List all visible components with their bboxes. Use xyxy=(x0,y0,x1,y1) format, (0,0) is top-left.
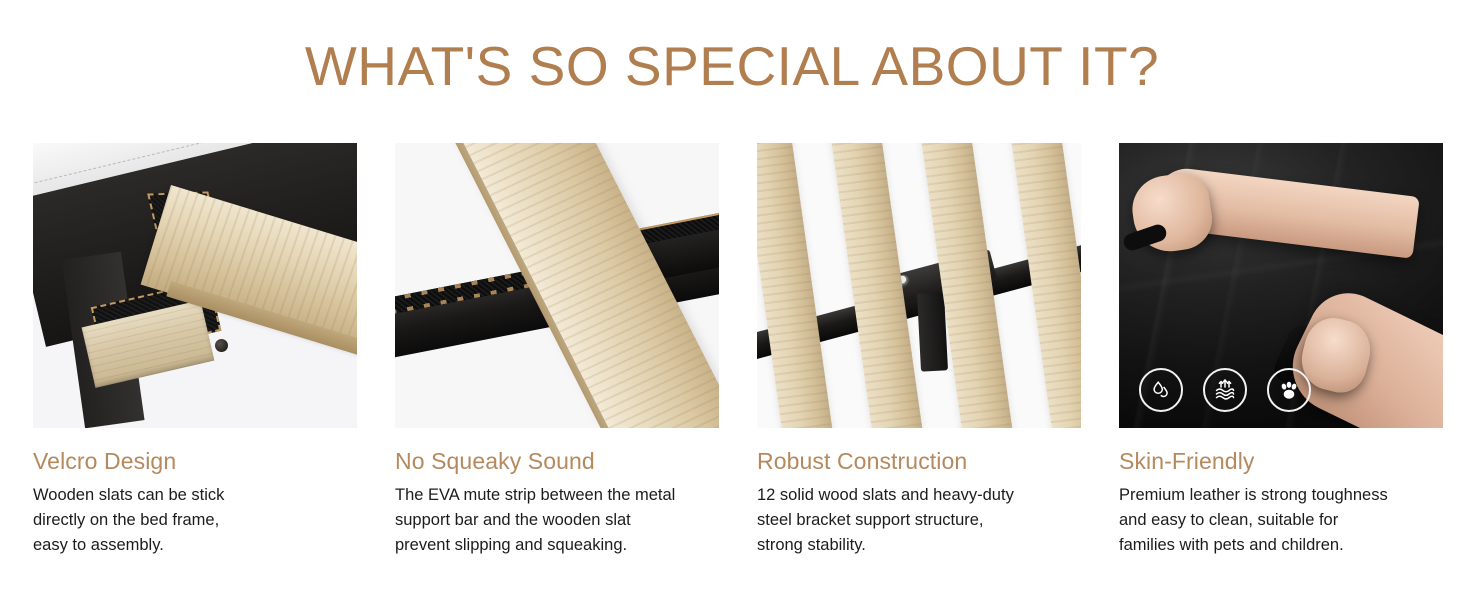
feature-description-line: easy to assembly. xyxy=(33,533,357,558)
pet-friendly-paw-icon xyxy=(1267,368,1311,412)
feature-title: Robust Construction xyxy=(757,448,1081,475)
feature-image-velcro-design xyxy=(33,143,357,428)
feature-grid: Velcro Design Wooden slats can be stick … xyxy=(33,143,1431,558)
feature-image-no-squeaky-sound xyxy=(395,143,719,428)
feature-description-line: strong stability. xyxy=(757,533,1081,558)
feature-description: 12 solid wood slats and heavy-duty steel… xyxy=(757,483,1081,558)
feature-description-line: 12 solid wood slats and heavy-duty xyxy=(757,483,1081,508)
waterproof-icon xyxy=(1139,368,1183,412)
feature-description-line: steel bracket support structure, xyxy=(757,508,1081,533)
feature-description: Premium leather is strong toughness and … xyxy=(1119,483,1443,558)
material-badge-row xyxy=(1139,368,1311,412)
feature-image-robust-construction xyxy=(757,143,1081,428)
feature-title: No Squeaky Sound xyxy=(395,448,719,475)
feature-image-skin-friendly xyxy=(1119,143,1443,428)
feature-card-robust-construction: Robust Construction 12 solid wood slats … xyxy=(757,143,1081,558)
feature-card-velcro-design: Velcro Design Wooden slats can be stick … xyxy=(33,143,357,558)
feature-title: Velcro Design xyxy=(33,448,357,475)
feature-title: Skin-Friendly xyxy=(1119,448,1443,475)
feature-description-line: support bar and the wooden slat xyxy=(395,508,719,533)
feature-card-no-squeaky-sound: No Squeaky Sound The EVA mute strip betw… xyxy=(395,143,719,558)
feature-description: The EVA mute strip between the metal sup… xyxy=(395,483,719,558)
feature-description-line: Wooden slats can be stick xyxy=(33,483,357,508)
frame-bolt-icon xyxy=(215,339,228,352)
feature-description-line: prevent slipping and squeaking. xyxy=(395,533,719,558)
feature-description: Wooden slats can be stick directly on th… xyxy=(33,483,357,558)
feature-banner: WHAT'S SO SPECIAL ABOUT IT? Velcro Desi xyxy=(0,0,1464,600)
page-title: WHAT'S SO SPECIAL ABOUT IT? xyxy=(0,34,1464,98)
feature-card-skin-friendly: Skin-Friendly Premium leather is strong … xyxy=(1119,143,1443,558)
feature-description-line: directly on the bed frame, xyxy=(33,508,357,533)
feature-description-line: Premium leather is strong toughness xyxy=(1119,483,1443,508)
feature-description-line: The EVA mute strip between the metal xyxy=(395,483,719,508)
breathable-icon xyxy=(1203,368,1247,412)
feature-description-line: and easy to clean, suitable for xyxy=(1119,508,1443,533)
feature-description-line: families with pets and children. xyxy=(1119,533,1443,558)
